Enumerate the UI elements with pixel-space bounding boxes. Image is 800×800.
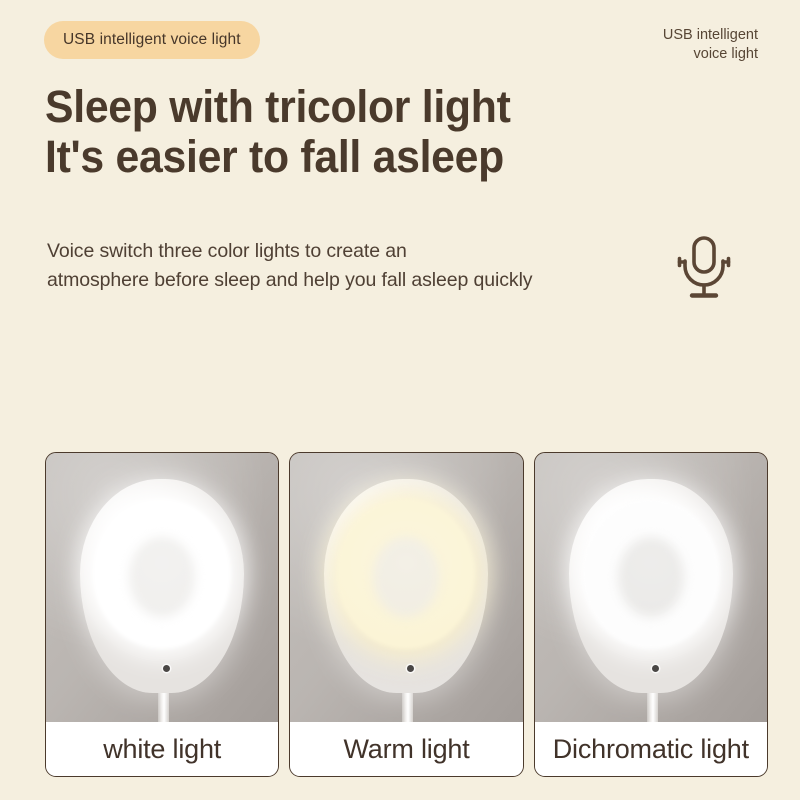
card-caption: Dichromatic light xyxy=(535,722,767,776)
headline-line-1: Sleep with tricolor light xyxy=(45,82,511,132)
page-subtitle: Voice switch three color lights to creat… xyxy=(47,237,657,295)
card-caption: Warm light xyxy=(290,722,522,776)
microphone-icon xyxy=(673,234,735,302)
page-title: Sleep with tricolor light It's easier to… xyxy=(45,82,511,182)
lamp-ring-inner xyxy=(129,537,195,617)
product-card-list: white light Warm light xyxy=(45,452,768,777)
promo-page: USB intelligent voice light USB intellig… xyxy=(0,0,800,800)
headline-line-2: It's easier to fall asleep xyxy=(45,132,511,182)
product-card[interactable]: Dichromatic light xyxy=(534,452,768,777)
product-badge-label: USB intelligent voice light xyxy=(63,31,241,49)
subtitle-line-2: atmosphere before sleep and help you fal… xyxy=(47,266,657,295)
subtitle-line-1: Voice switch three color lights to creat… xyxy=(47,237,657,266)
card-caption: white light xyxy=(46,722,278,776)
lamp-sensor-dot xyxy=(652,665,659,672)
product-badge: USB intelligent voice light xyxy=(44,21,260,59)
lamp-ring-inner xyxy=(618,537,684,617)
product-card[interactable]: Warm light xyxy=(289,452,523,777)
product-card[interactable]: white light xyxy=(45,452,279,777)
corner-product-label: USB intelligent voice light xyxy=(663,26,758,64)
